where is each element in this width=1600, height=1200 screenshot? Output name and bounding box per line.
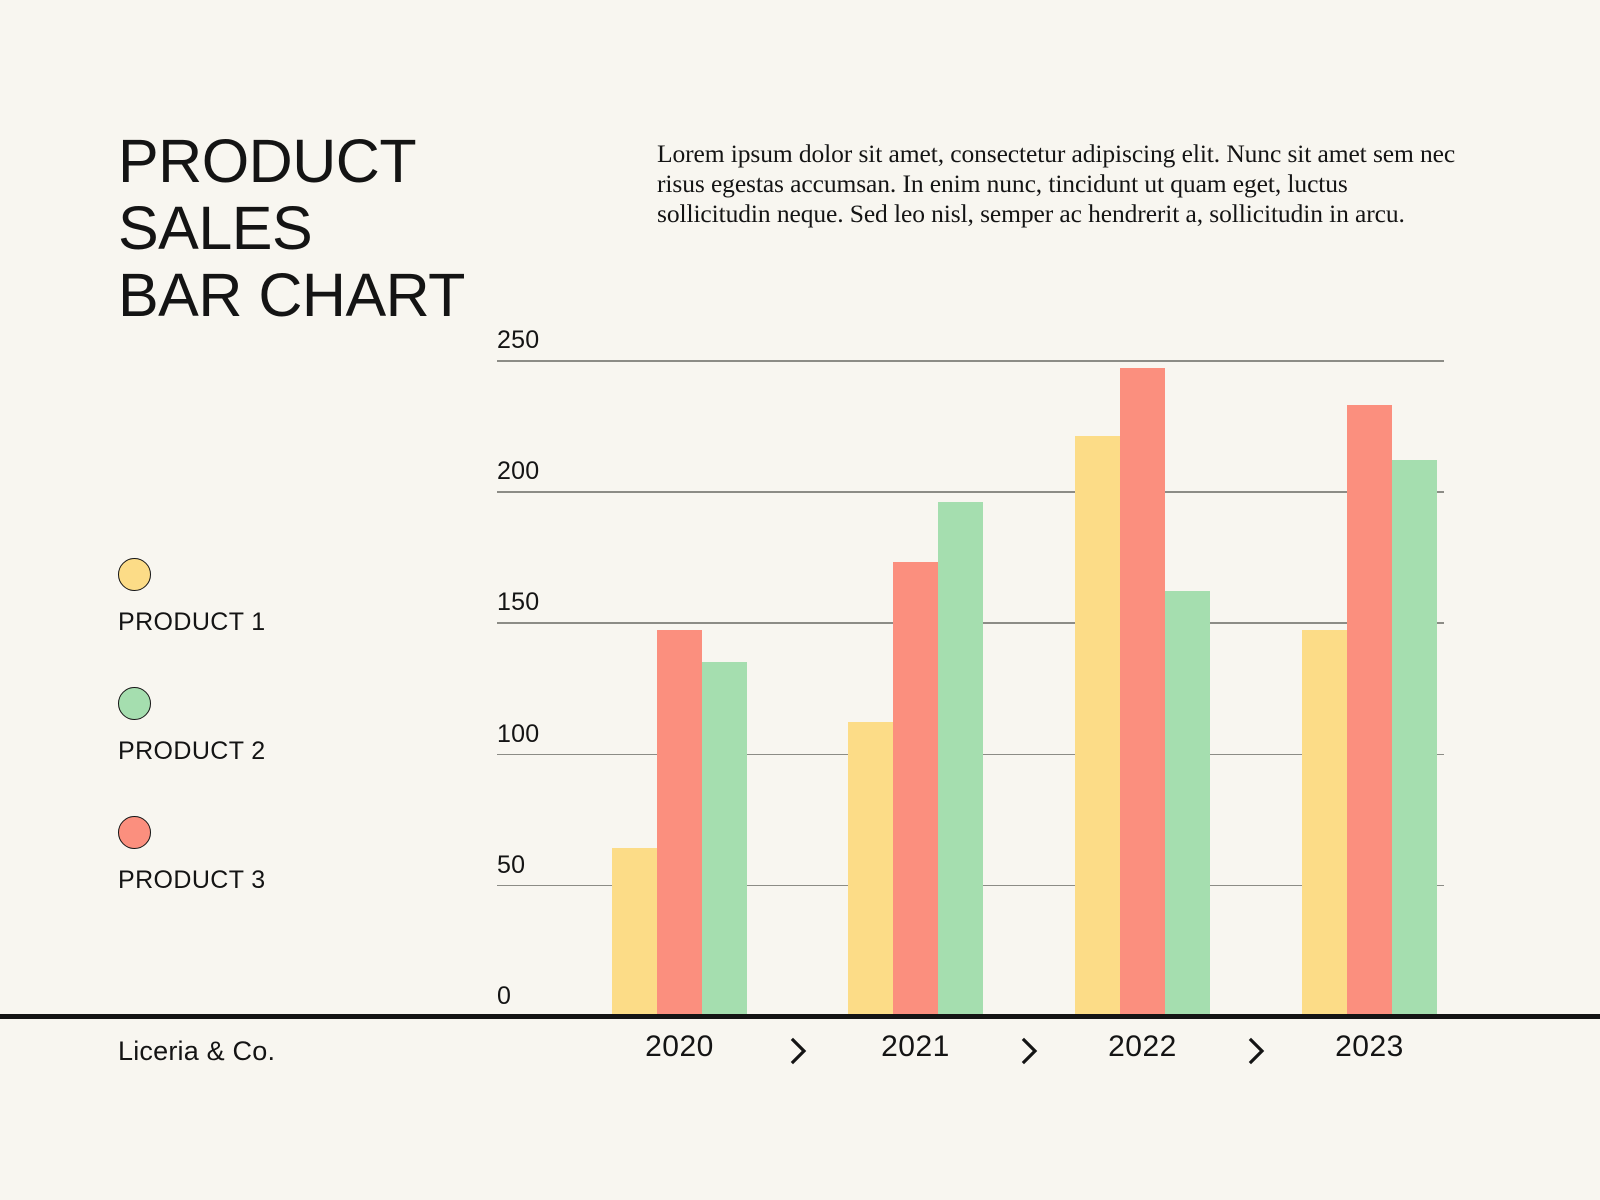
bar [1302, 630, 1347, 1016]
legend-label-product-2: PRODUCT 2 [118, 737, 438, 766]
x-axis-labels: 2020202120222023 [497, 1030, 1444, 1090]
legend-swatch-product-3 [118, 816, 151, 849]
chevron-right-icon [1009, 1030, 1049, 1066]
chevron-right-icon [1236, 1030, 1276, 1066]
page-title: PRODUCT SALES BAR CHART [118, 128, 465, 329]
axis-baseline [0, 1014, 1600, 1019]
chart-legend: PRODUCT 1 PRODUCT 2 PRODUCT 3 [118, 558, 438, 945]
legend-item: PRODUCT 1 [118, 558, 438, 637]
y-axis-tick-label: 250 [497, 326, 539, 360]
legend-swatch-product-2 [118, 687, 151, 720]
bar [1347, 405, 1392, 1016]
x-axis-label-2022: 2022 [1083, 1030, 1203, 1064]
bar [1392, 460, 1437, 1016]
legend-swatch-product-1 [118, 558, 151, 591]
bar [612, 848, 657, 1016]
bar [1075, 436, 1120, 1016]
bar [893, 562, 938, 1016]
intro-paragraph: Lorem ipsum dolor sit amet, consectetur … [657, 139, 1457, 229]
bar [702, 662, 747, 1016]
legend-label-product-3: PRODUCT 3 [118, 866, 438, 895]
bar [848, 722, 893, 1016]
x-axis-label-2021: 2021 [856, 1030, 976, 1064]
bar [657, 630, 702, 1016]
x-axis-label-2020: 2020 [620, 1030, 740, 1064]
bar [1165, 591, 1210, 1016]
x-axis-label-2023: 2023 [1310, 1030, 1430, 1064]
bars-layer [497, 360, 1444, 1016]
chevron-right-icon [778, 1030, 818, 1066]
footer-brand: Liceria & Co. [118, 1036, 275, 1067]
bar-chart: 050100150200250 [497, 360, 1444, 1020]
legend-label-product-1: PRODUCT 1 [118, 608, 438, 637]
bar [938, 502, 983, 1016]
bar [1120, 368, 1165, 1016]
legend-item: PRODUCT 2 [118, 687, 438, 766]
legend-item: PRODUCT 3 [118, 816, 438, 895]
